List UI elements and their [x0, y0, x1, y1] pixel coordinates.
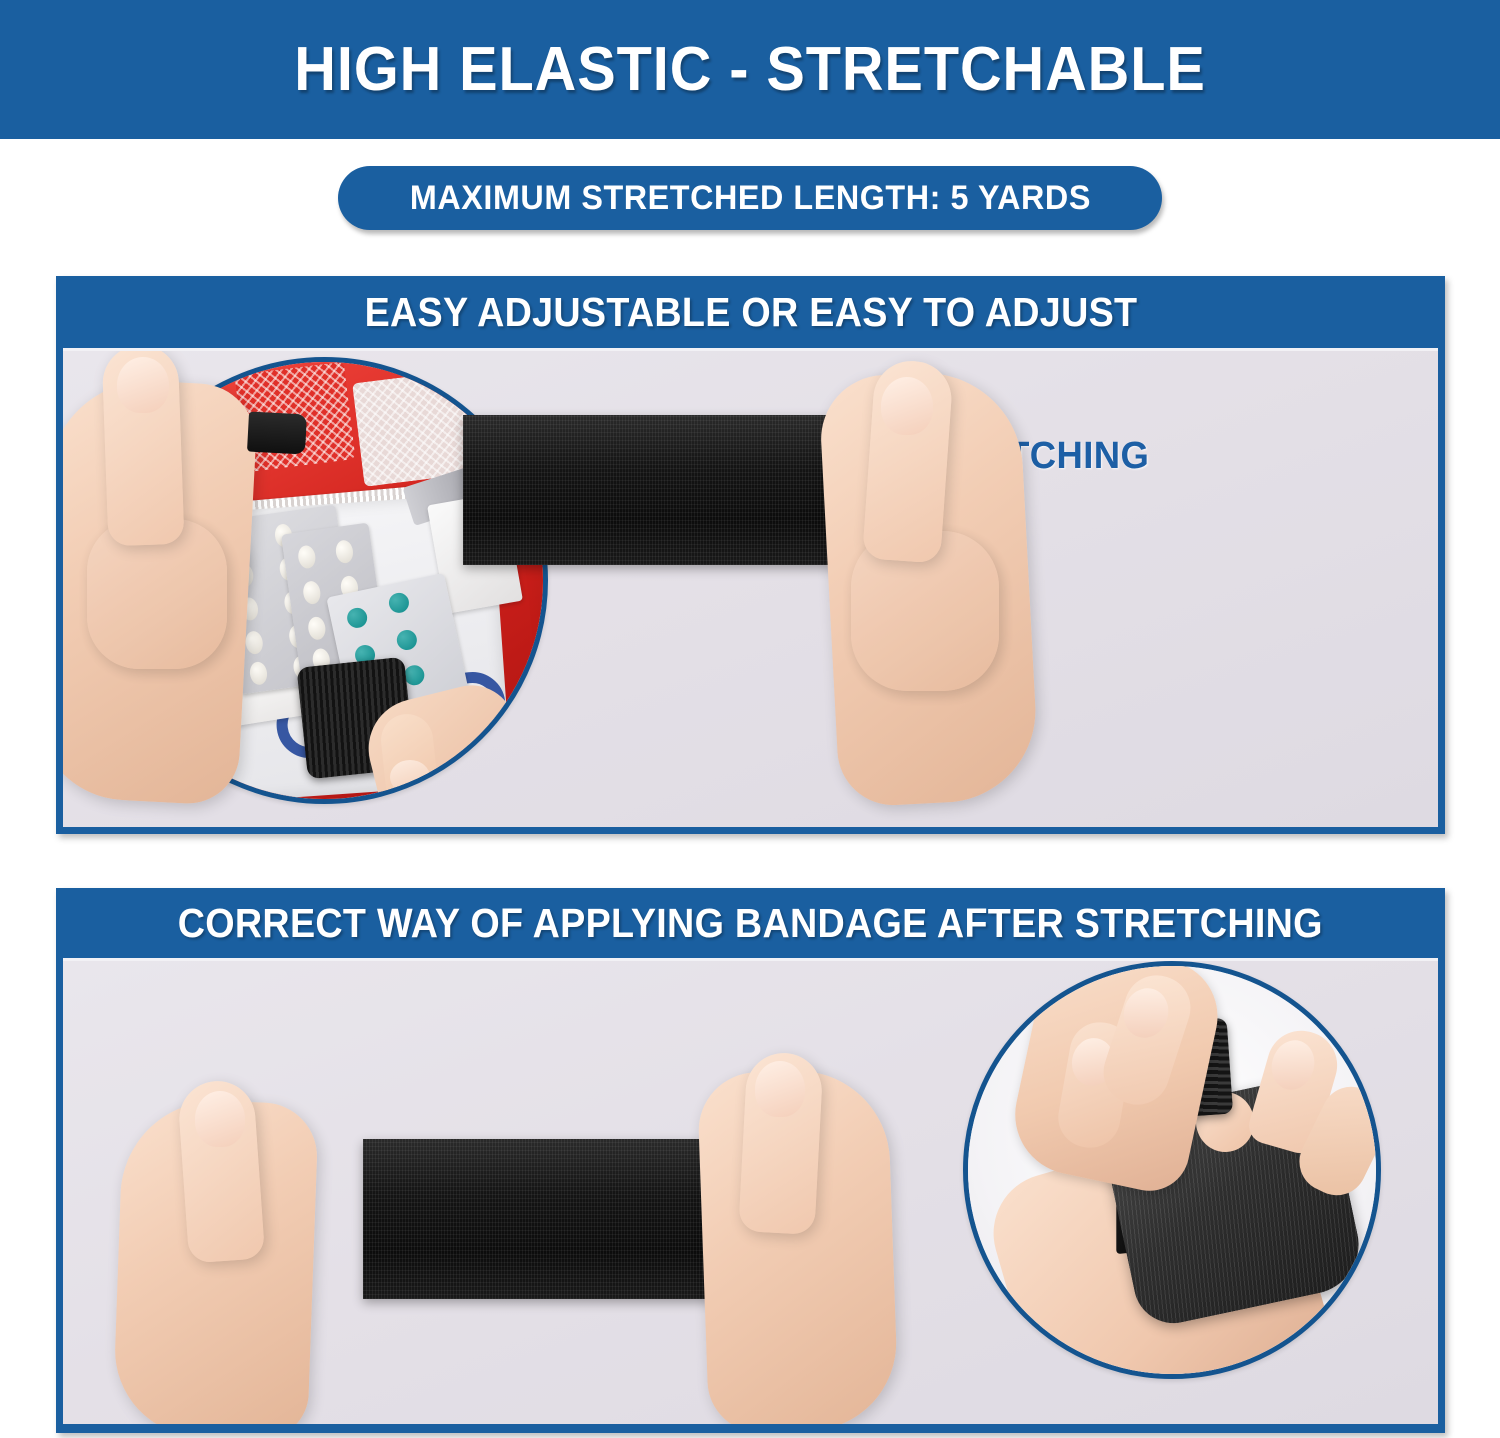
panel-1-header-label: EASY ADJUSTABLE OR EASY TO ADJUST — [364, 289, 1137, 336]
bandage-unstretched-scene: BEFORE STRETCHING — [63, 351, 1438, 827]
left-fingernail-front — [117, 357, 169, 413]
page-title: HIGH ELASTIC - STRETCHABLE — [294, 34, 1206, 105]
panel-2-header-label: CORRECT WAY OF APPLYING BANDAGE AFTER ST… — [178, 900, 1323, 947]
header-banner: HIGH ELASTIC - STRETCHABLE — [0, 0, 1500, 139]
badge-row: MAXIMUM STRETCHED LENGTH: 5 YARDS — [0, 166, 1500, 230]
bandage-end-tail — [247, 412, 307, 455]
panel-correct-way: CORRECT WAY OF APPLYING BANDAGE AFTER ST… — [56, 888, 1445, 1433]
right-fingernail-front — [881, 377, 933, 435]
panel-1-header: EASY ADJUSTABLE OR EASY TO ADJUST — [56, 276, 1445, 348]
panel-2-photo-area — [63, 958, 1438, 1424]
infographic-page: HIGH ELASTIC - STRETCHABLE MAXIMUM STRET… — [0, 0, 1500, 1438]
max-length-badge-label: MAXIMUM STRETCHED LENGTH: 5 YARDS — [409, 179, 1090, 218]
max-length-badge: MAXIMUM STRETCHED LENGTH: 5 YARDS — [338, 166, 1163, 230]
panel-easy-adjustable: EASY ADJUSTABLE OR EASY TO ADJUST — [56, 276, 1445, 834]
left-fingernail-front-2 — [195, 1091, 245, 1147]
wrist-wrapping-inset — [963, 961, 1381, 1379]
panel-2-header: CORRECT WAY OF APPLYING BANDAGE AFTER ST… — [56, 888, 1445, 958]
right-fingernail-front-2 — [755, 1061, 805, 1117]
panel-1-photo-area: BEFORE STRETCHING — [63, 348, 1438, 827]
